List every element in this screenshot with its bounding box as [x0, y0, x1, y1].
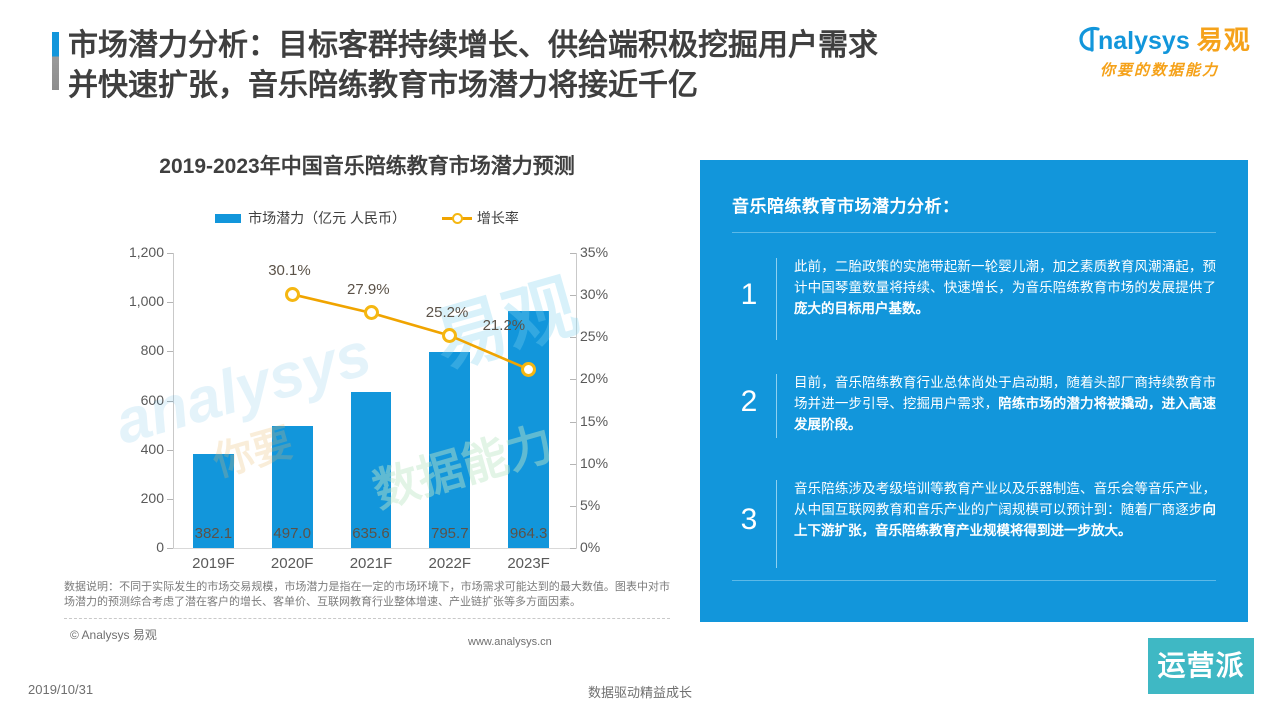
- analysis-item-number: 3: [732, 505, 766, 535]
- legend-swatch-icon: [215, 214, 241, 223]
- ytick-right-mark: [570, 295, 576, 296]
- page-title-line1: 市场潜力分析：目标客群持续增长、供给端积极挖掘用户需求: [68, 29, 878, 62]
- ytick-left: 1,200: [102, 244, 164, 260]
- ytick-right: 0%: [580, 539, 640, 555]
- footer-slogan: 数据驱动精益成长: [0, 682, 1280, 701]
- analysis-item: 1此前，二胎政策的实施带起新一轮婴儿潮，加之素质教育风潮涌起，预计中国琴童数量将…: [732, 256, 1216, 319]
- line-marker-2021F[interactable]: [364, 305, 379, 320]
- analysys-wordmark-cn: 易观: [1197, 25, 1251, 55]
- chart-card: 2019-2023年中国音乐陪练教育市场潜力预测 市场潜力（亿元 人民币） 增长…: [58, 150, 676, 642]
- legend-line-icon: [442, 212, 472, 224]
- analysis-item-emphasis: 向上下游扩张，音乐陪练教育产业规模将得到进一步放大。: [794, 502, 1216, 538]
- ytick-left: 200: [102, 490, 164, 506]
- chart-note: 数据说明：不同于实际发生的市场交易规模，市场潜力是指在一定的市场环境下，市场需求…: [64, 580, 670, 610]
- ytick-right: 5%: [580, 497, 640, 513]
- chart-axis-bottom: [173, 548, 577, 549]
- ytick-right-mark: [570, 506, 576, 507]
- ytick-left-mark: [167, 548, 173, 549]
- analysis-item-number: 1: [732, 280, 766, 310]
- note-divider: [64, 618, 670, 619]
- ytick-right: 30%: [580, 286, 640, 302]
- legend-label-line: 增长率: [477, 210, 519, 226]
- ytick-right: 25%: [580, 328, 640, 344]
- chart-url: www.analysys.cn: [468, 636, 552, 648]
- ytick-right-mark: [570, 379, 576, 380]
- pct-label-2023F: 21.2%: [483, 317, 526, 334]
- ytick-right-mark: [570, 253, 576, 254]
- chart-plot: analysys 易观 你要 数据能力 02004006008001,0001,…: [102, 235, 640, 613]
- ytick-left: 800: [102, 342, 164, 358]
- panel-rule-top: [732, 232, 1216, 233]
- analysys-swoosh-icon: [1078, 26, 1100, 58]
- analysys-logo-main: nalysys易观: [1078, 26, 1268, 58]
- analysis-item-text: 此前，二胎政策的实施带起新一轮婴儿潮，加之素质教育风潮涌起，预计中国琴童数量将持…: [794, 256, 1216, 319]
- analysis-panel-title: 音乐陪练教育市场潜力分析：: [732, 192, 960, 217]
- yunyingpai-logo: 运营派: [1148, 638, 1254, 694]
- ytick-left-mark: [167, 351, 173, 352]
- analysis-item: 3音乐陪练涉及考级培训等教育产业以及乐器制造、音乐会等音乐产业，从中国互联网教育…: [732, 478, 1216, 541]
- ytick-right-mark: [570, 337, 576, 338]
- line-marker-2020F[interactable]: [285, 287, 300, 302]
- pct-label-2020F: 30.1%: [268, 262, 311, 279]
- analysys-logo: nalysys易观 你要的数据能力: [1078, 26, 1268, 88]
- analysis-item-divider: [776, 480, 777, 568]
- xtick-2021F: 2021F: [332, 555, 411, 572]
- analysis-item-text: 目前，音乐陪练教育行业总体尚处于启动期，随着头部厂商持续教育市场并进一步引导、挖…: [794, 372, 1216, 435]
- ytick-left-mark: [167, 401, 173, 402]
- panel-rule-bottom: [732, 580, 1216, 581]
- ytick-left: 600: [102, 392, 164, 408]
- analysis-item-number: 2: [732, 387, 766, 417]
- ytick-right-mark: [570, 422, 576, 423]
- ytick-left-mark: [167, 499, 173, 500]
- pct-label-2021F: 27.9%: [347, 281, 390, 298]
- analysis-item-text: 音乐陪练涉及考级培训等教育产业以及乐器制造、音乐会等音乐产业，从中国互联网教育和…: [794, 478, 1216, 541]
- xtick-2022F: 2022F: [410, 555, 489, 572]
- ytick-right: 10%: [580, 455, 640, 471]
- ytick-left: 1,000: [102, 293, 164, 309]
- xtick-2020F: 2020F: [253, 555, 332, 572]
- ytick-left-mark: [167, 302, 173, 303]
- line-marker-2023F[interactable]: [521, 362, 536, 377]
- analysis-panel: 音乐陪练教育市场潜力分析： 1此前，二胎政策的实施带起新一轮婴儿潮，加之素质教育…: [700, 160, 1248, 622]
- analysis-item-divider: [776, 258, 777, 340]
- ytick-right-mark: [570, 548, 576, 549]
- ytick-left: 400: [102, 441, 164, 457]
- analysis-item-divider: [776, 374, 777, 438]
- analysis-item: 2目前，音乐陪练教育行业总体尚处于启动期，随着头部厂商持续教育市场并进一步引导、…: [732, 372, 1216, 435]
- legend-label-bar: 市场潜力（亿元 人民币）: [248, 210, 406, 226]
- ytick-right: 35%: [580, 244, 640, 260]
- ytick-left: 0: [102, 539, 164, 555]
- page-title-line2: 并快速扩张，音乐陪练教育市场潜力将接近千亿: [68, 66, 1078, 106]
- xtick-2019F: 2019F: [174, 555, 253, 572]
- chart-copyright: © Analysys 易观: [70, 626, 157, 643]
- page-title: 市场潜力分析：目标客群持续增长、供给端积极挖掘用户需求 并快速扩张，音乐陪练教育…: [68, 26, 1078, 106]
- pct-label-2022F: 25.2%: [426, 304, 469, 321]
- chart-title: 2019-2023年中国音乐陪练教育市场潜力预测: [58, 150, 676, 180]
- title-accent-bar: [52, 32, 59, 90]
- legend-item-line[interactable]: 增长率: [442, 208, 519, 228]
- chart-plot-area: 382.1497.0635.6795.7964.330.1%27.9%25.2%…: [174, 253, 568, 548]
- analysys-tagline: 你要的数据能力: [1100, 59, 1268, 80]
- ytick-left-mark: [167, 253, 173, 254]
- ytick-right: 20%: [580, 370, 640, 386]
- ytick-right-mark: [570, 464, 576, 465]
- page-header: 市场潜力分析：目标客群持续增长、供给端积极挖掘用户需求 并快速扩张，音乐陪练教育…: [0, 0, 1280, 130]
- chart-axis-right: [576, 253, 577, 548]
- analysis-item-emphasis: 庞大的目标用户基数。: [794, 301, 929, 316]
- legend-item-bar[interactable]: 市场潜力（亿元 人民币）: [215, 208, 406, 228]
- chart-legend: 市场潜力（亿元 人民币） 增长率: [58, 208, 676, 228]
- ytick-left-mark: [167, 450, 173, 451]
- analysys-wordmark: nalysys: [1098, 27, 1190, 55]
- xtick-2023F: 2023F: [489, 555, 568, 572]
- ytick-right: 15%: [580, 413, 640, 429]
- analysis-item-emphasis: 陪练市场的潜力将被撬动，进入高速发展阶段。: [794, 396, 1216, 432]
